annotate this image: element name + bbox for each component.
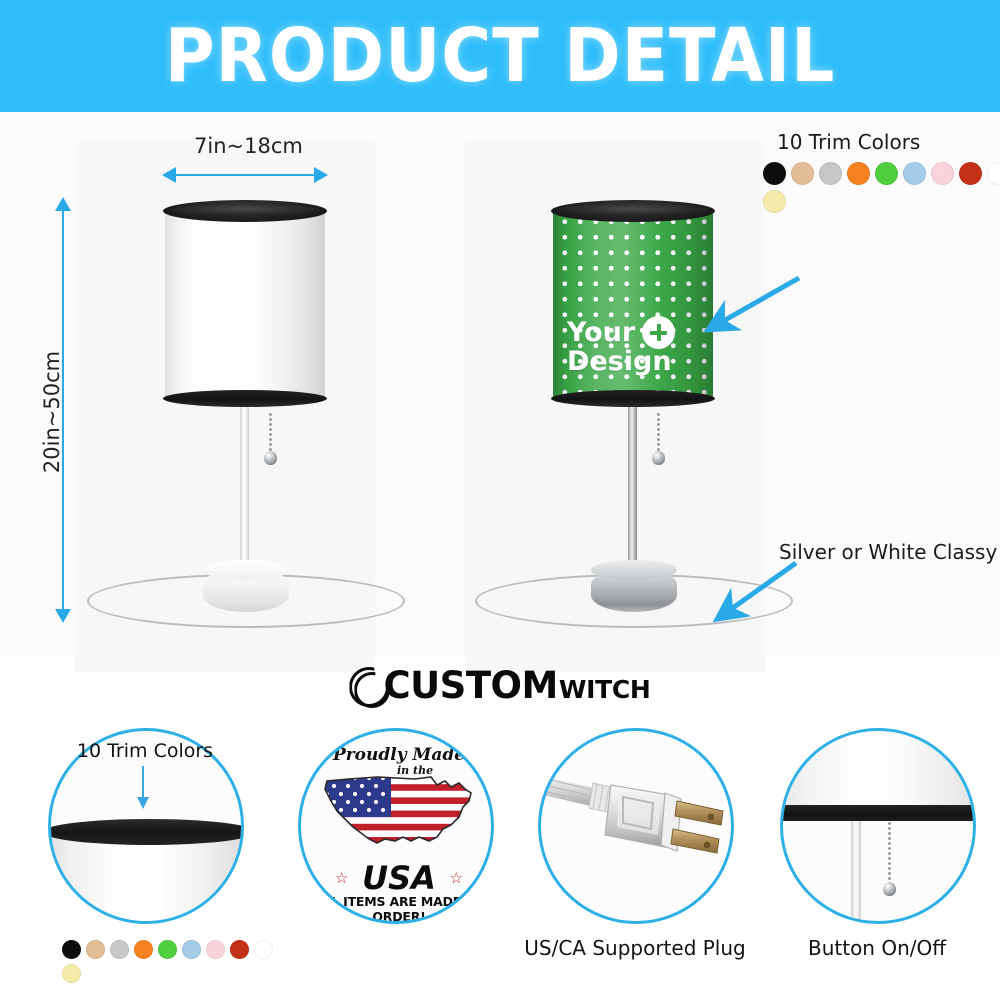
chain-line — [888, 821, 891, 885]
lampshade-custom-bottom-trim — [551, 390, 715, 407]
logo-word-witch-wrap: WITCH — [559, 677, 651, 702]
chain-line — [657, 412, 660, 454]
base-finish-label: Silver or White Classy — [779, 540, 997, 564]
plus-icon[interactable] — [642, 316, 675, 349]
feature-button-caption: Button On/Off — [752, 936, 1000, 960]
logo-word-custom: CUSTOM — [383, 667, 557, 704]
lamp-white-base-top — [203, 560, 289, 580]
swatch-green[interactable] — [875, 162, 898, 185]
lampshade-white-top-trim — [163, 200, 327, 222]
trim-color-swatches-top[interactable] — [763, 162, 1000, 218]
usa-subtext: ALL ITEMS ARE MADE TO ORDER! — [301, 894, 494, 924]
chain-bead[interactable] — [264, 451, 277, 465]
swatch-black[interactable] — [763, 162, 786, 185]
swatch-yellow[interactable] — [763, 190, 786, 213]
chain-bead[interactable] — [883, 882, 896, 896]
lamp-white-pull-chain[interactable] — [268, 412, 273, 454]
lamp-custom-base-top — [591, 560, 677, 580]
swatch-white[interactable] — [987, 162, 1000, 185]
swatch-row — [763, 162, 1000, 185]
lampshade-white-bottom-trim — [163, 390, 327, 407]
logo-word-witch: WITCH — [559, 677, 651, 702]
swatch-row — [62, 964, 273, 983]
page-title: PRODUCT DETAIL — [40, 16, 960, 96]
swatch-gray[interactable] — [819, 162, 842, 185]
height-dimension-label: 20in~50cm — [40, 332, 64, 492]
feature-plug-caption: US/CA Supported Plug — [510, 936, 760, 960]
lamp-showcase-stage: 7in~18cm 20in~50cm — [0, 112, 1000, 657]
lampshade-white — [165, 200, 325, 408]
swatch-white[interactable] — [254, 940, 273, 959]
swatch-orange[interactable] — [134, 940, 153, 959]
swatch-tan[interactable] — [791, 162, 814, 185]
chain-line — [269, 412, 272, 454]
feature-plug-circle — [538, 728, 734, 924]
trim-color-swatches-bottom[interactable] — [62, 940, 273, 988]
feature-button-circle — [780, 728, 976, 924]
swatch-black[interactable] — [62, 940, 81, 959]
trim-colors-label-inner: 10 Trim Colors — [20, 740, 270, 762]
swatch-red[interactable] — [959, 162, 982, 185]
swatch-pink[interactable] — [931, 162, 954, 185]
product-detail-page: PRODUCT DETAIL 7in~18cm 20in~50cm — [0, 0, 1000, 1000]
power-plug-icon — [541, 731, 734, 924]
trim-closeup-ring — [48, 819, 244, 845]
swatch-orange[interactable] — [847, 162, 870, 185]
down-arrow-icon — [142, 766, 144, 798]
usa-badge: Proudly Made in the — [301, 731, 494, 924]
logo-lockup: CUSTOM WITCH — [349, 667, 650, 705]
usa-word: USA — [301, 859, 494, 897]
trim-colors-label-top: 10 Trim Colors — [777, 130, 920, 154]
swatch-pink[interactable] — [206, 940, 225, 959]
swatch-row — [763, 190, 1000, 213]
width-dimension-arrow — [175, 174, 315, 176]
lamp-custom-pull-chain[interactable] — [656, 412, 661, 454]
swatch-row — [62, 940, 273, 959]
usa-script-line1: Proudly Made — [301, 745, 494, 765]
swatch-light-blue[interactable] — [182, 940, 201, 959]
lampshade-white-body — [165, 208, 325, 402]
button-closeup-pole — [851, 821, 861, 924]
lampshade-custom: Your Design — [553, 200, 713, 408]
button-closeup-pull-chain[interactable] — [887, 821, 892, 885]
feature-usa-circle: Proudly Made in the — [298, 728, 494, 924]
button-closeup-trim — [780, 805, 976, 821]
base-callout-arrow-icon — [704, 555, 804, 629]
swatch-tan[interactable] — [86, 940, 105, 959]
trim-callout-arrow-icon — [695, 272, 805, 338]
lampshade-custom-top-trim — [551, 200, 715, 222]
usa-map-flag-icon — [319, 771, 479, 857]
chain-bead[interactable] — [652, 451, 665, 465]
swatch-yellow[interactable] — [62, 964, 81, 983]
usa-star-right: ☆ — [450, 869, 463, 887]
swatch-green[interactable] — [158, 940, 177, 959]
feature-row: 10 Trim Colors Proudly Made in the — [0, 710, 1000, 1000]
design-line-2: Design — [567, 347, 672, 376]
c-arc-icon — [349, 667, 387, 705]
button-closeup-shade — [780, 728, 976, 809]
brand-logo: CUSTOM WITCH — [0, 662, 1000, 710]
width-dimension-label: 7in~18cm — [194, 134, 303, 158]
swatch-gray[interactable] — [110, 940, 129, 959]
swatch-red[interactable] — [230, 940, 249, 959]
swatch-light-blue[interactable] — [903, 162, 926, 185]
